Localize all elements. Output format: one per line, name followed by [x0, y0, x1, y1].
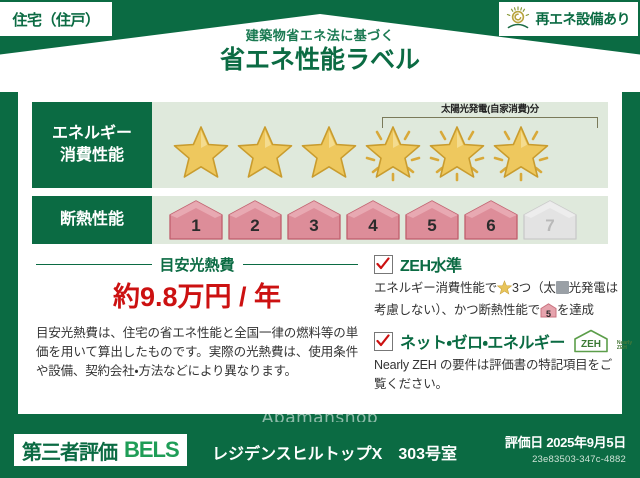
zeh-block: ZEH水準 エネルギー消費性能で3つ（太光発電は考慮しない）、かつ断熱性能で5を…	[374, 252, 624, 403]
net-zero-checkbox	[374, 332, 393, 351]
zeh-logo-icon: ZEH	[572, 329, 610, 353]
evaluation-date: 評価日 2025年9月5日	[505, 432, 626, 451]
star-solar	[490, 122, 552, 184]
zeh-logo-sublabel: Nearly ZEH	[617, 341, 632, 351]
solar-caption: 太陽光発電(自家消費)分	[382, 104, 598, 116]
insulation-level-filled: 2	[227, 199, 283, 241]
energy-label-root: 住宅（住戸） 再エネ設備あり 建築物省エネ法に基づく	[0, 0, 640, 478]
inline-star-icon	[497, 280, 512, 301]
utility-cost-heading: 目安光熱費	[36, 254, 358, 275]
utility-cost-amount: 約9.8万円 / 年	[36, 281, 358, 313]
insulation-performance-label: 断熱性能	[32, 196, 152, 244]
net-zero-energy-item: ネット・ゼロ・エネルギー ZEH Nearly ZEH Nearly ZEH の…	[374, 329, 624, 394]
star-solar	[362, 122, 424, 184]
insulation-label-text: 断熱性能	[60, 210, 124, 230]
header-subtitle: 建築物省エネ法に基づく	[0, 28, 640, 44]
redaction-mark	[556, 281, 569, 294]
insulation-rating-panel: 1234567	[152, 196, 608, 244]
energy-star-rating	[170, 122, 552, 184]
insulation-level-filled: 5	[404, 199, 460, 241]
energy-label-line2: 消費性能	[60, 145, 124, 167]
bels-jp-label: 第三者評価	[22, 436, 117, 465]
zeh-standard-item: ZEH水準 エネルギー消費性能で3つ（太光発電は考慮しない）、かつ断熱性能で5を…	[374, 252, 624, 320]
footer-bar: 第三者評価 BELS レジデンスヒルトップX 303号室 評価日 2025年9月…	[0, 422, 640, 478]
page-title: 省エネ性能ラベル	[0, 46, 640, 75]
inline-insulation-level-icon: 5	[540, 303, 557, 318]
zeh-desc-end: を達成	[557, 303, 594, 317]
bels-badge: 第三者評価 BELS	[14, 434, 187, 466]
zeh-standard-checkbox	[374, 255, 393, 274]
energy-performance-row: エネルギー 消費性能 太陽光発電(自家消費)分	[32, 102, 608, 188]
net-zero-title-row: ネット・ゼロ・エネルギー ZEH Nearly ZEH	[374, 329, 624, 353]
insulation-level-filled: 4	[345, 199, 401, 241]
label-card: エネルギー 消費性能 太陽光発電(自家消費)分 断熱性能 1234567	[18, 92, 622, 414]
insulation-performance-row: 断熱性能 1234567	[32, 196, 608, 244]
heading-rule-left	[36, 264, 152, 265]
inline-level-number: 5	[540, 305, 557, 324]
energy-label-line1: エネルギー	[52, 123, 132, 145]
energy-rating-panel: 太陽光発電(自家消費)分	[152, 102, 608, 188]
zeh-standard-title-row: ZEH水準	[374, 252, 624, 276]
energy-performance-label: エネルギー 消費性能	[32, 102, 152, 188]
star-filled	[170, 122, 232, 184]
house-type-label: 住宅（住戸）	[12, 9, 99, 30]
insulation-level-empty: 7	[522, 199, 578, 241]
zeh-standard-title: ZEH水準	[400, 252, 462, 276]
star-solar	[426, 122, 488, 184]
star-filled	[234, 122, 296, 184]
renewable-equipment-label: 再エネ設備あり	[536, 9, 631, 29]
insulation-level-scale: 1234567	[168, 199, 578, 241]
heading-rule-right	[243, 264, 359, 265]
insulation-level-filled: 3	[286, 199, 342, 241]
utility-cost-block: 目安光熱費 約9.8万円 / 年 目安光熱費は、住宅の省エネ性能と全国一律の燃料…	[36, 254, 358, 381]
star-filled	[298, 122, 360, 184]
utility-cost-note: 目安光熱費は、住宅の省エネ性能と全国一律の燃料等の単価を用いて算出したものです。…	[36, 324, 358, 381]
net-zero-description: Nearly ZEH の要件は評価書の特記項目をご覧ください。	[374, 356, 624, 394]
bels-en-label: BELS	[124, 437, 179, 463]
header-title-block: 建築物省エネ法に基づく 省エネ性能ラベル	[0, 28, 640, 92]
svg-text:ZEH: ZEH	[581, 339, 601, 350]
insulation-level-filled: 1	[168, 199, 224, 241]
zeh-standard-description: エネルギー消費性能で3つ（太光発電は考慮しない）、かつ断熱性能で5を達成	[374, 279, 624, 320]
net-zero-title: ネット・ゼロ・エネルギー	[400, 329, 565, 353]
zeh-desc-pre: エネルギー消費性能で	[374, 281, 497, 295]
evaluation-id: 23e83503-347c-4882	[505, 454, 626, 465]
insulation-level-filled: 6	[463, 199, 519, 241]
property-room-name: レジデンスヒルトップX 303号室	[212, 440, 457, 464]
utility-cost-heading-text: 目安光熱費	[160, 254, 235, 275]
evaluation-info: 評価日 2025年9月5日 23e83503-347c-4882	[505, 432, 626, 465]
zeh-desc-mid: 3つ（太	[512, 281, 556, 295]
